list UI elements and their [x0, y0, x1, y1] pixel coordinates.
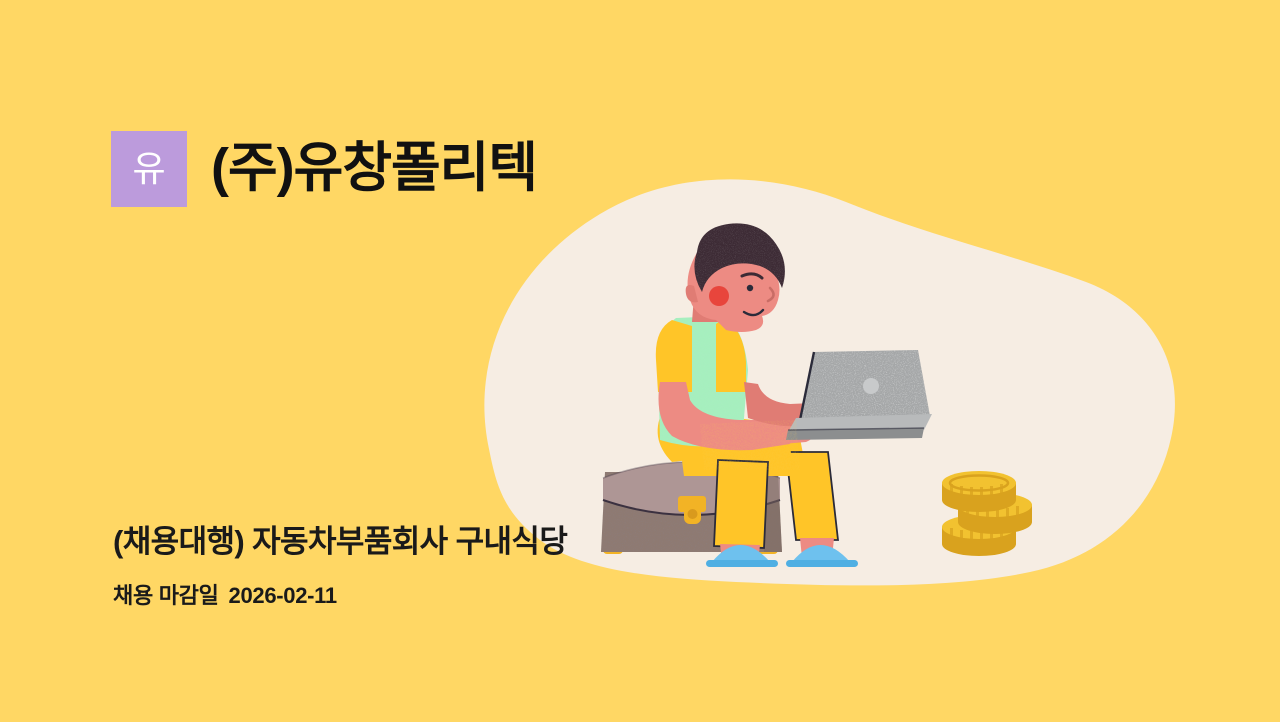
deadline-date: 2026-02-11 — [229, 583, 337, 608]
company-logo-badge: 유 — [111, 131, 187, 207]
company-logo-glyph: 유 — [132, 151, 165, 187]
job-title: (채용대행) 자동차부품회사 구내식당 — [113, 524, 567, 560]
job-posting-card: 유 (주)유창폴리텍 (채용대행) 자동차부품회사 구내식당 채용 마감일202… — [0, 0, 1280, 722]
company-name: (주)유창폴리텍 — [211, 141, 537, 196]
company-header: 유 (주)유창폴리텍 — [111, 131, 537, 207]
deadline-row: 채용 마감일2026-02-11 — [113, 583, 337, 609]
text-layer: 유 (주)유창폴리텍 (채용대행) 자동차부품회사 구내식당 채용 마감일202… — [0, 0, 1280, 722]
deadline-label: 채용 마감일 — [113, 583, 219, 608]
